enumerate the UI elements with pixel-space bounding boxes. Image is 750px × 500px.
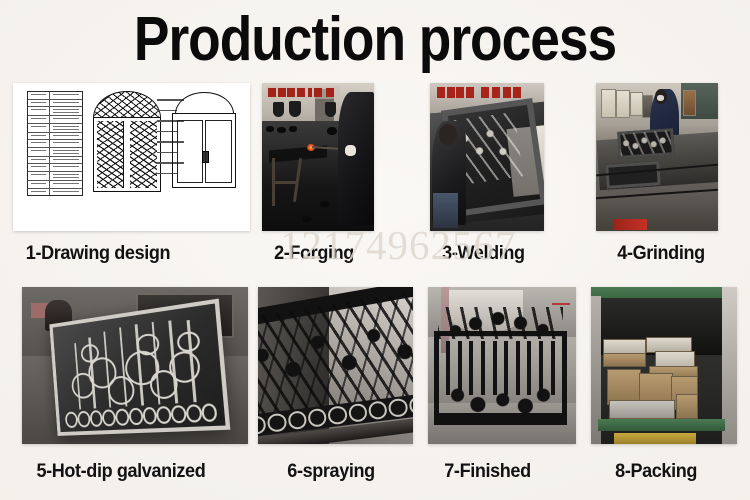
cad-spec-table	[27, 91, 84, 196]
packing-photo	[591, 287, 737, 444]
cad-section-view	[172, 92, 236, 188]
step-label-2: 2-Forging	[274, 243, 354, 265]
step-label-3: 3-Welding	[442, 243, 524, 265]
cad-drawing	[13, 83, 250, 231]
step-image-3-welding	[430, 83, 544, 231]
cad-door-elevation	[93, 91, 161, 192]
galvanized-gate-panel	[49, 299, 230, 436]
step-label-7: 7-Finished	[444, 461, 530, 483]
step-image-7-finished	[428, 287, 576, 444]
step-image-4-grinding	[596, 83, 718, 231]
step-label-6: 6-spraying	[287, 461, 374, 483]
spraying-photo	[258, 287, 413, 444]
step-label-5: 5-Hot-dip galvanized	[36, 461, 205, 483]
production-process-infographic: Production process	[0, 0, 750, 500]
step-image-2-forging	[262, 83, 374, 231]
forging-photo	[262, 83, 374, 231]
step-image-8-packing	[591, 287, 737, 444]
workshop-banner	[266, 86, 340, 99]
grinding-photo	[596, 83, 718, 231]
step-label-1: 1-Drawing design	[26, 243, 170, 265]
welding-photo	[430, 83, 544, 231]
finished-gate-photo	[428, 287, 576, 444]
step-label-4: 4-Grinding	[617, 243, 704, 265]
step-label-8: 8-Packing	[615, 461, 697, 483]
workshop-red-signage	[437, 87, 526, 97]
step-image-6-spraying	[258, 287, 413, 444]
finished-iron-gate	[434, 331, 567, 425]
page-title: Production process	[53, 6, 698, 74]
galvanized-photo	[22, 287, 248, 444]
step-image-5-hot-dip-galvanized	[22, 287, 248, 444]
step-image-1-drawing-design	[13, 83, 250, 231]
